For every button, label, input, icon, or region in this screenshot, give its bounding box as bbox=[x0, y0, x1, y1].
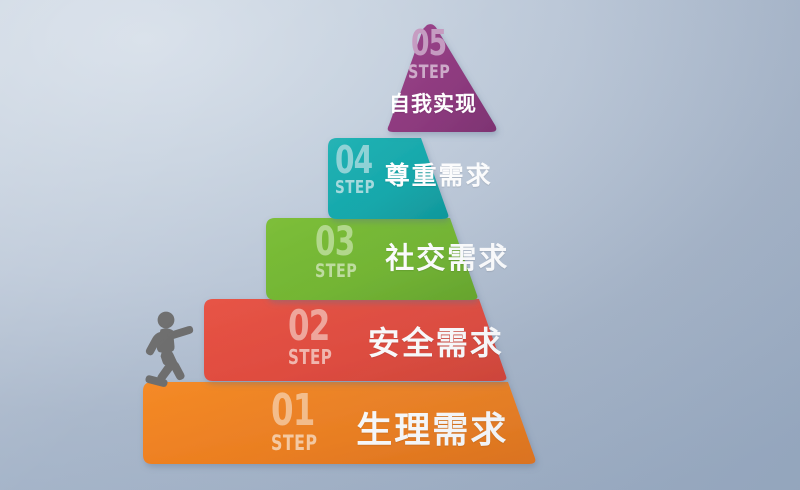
pyramid-level-01[interactable] bbox=[143, 382, 535, 464]
pyramid-diagram-canvas: 05 STEP 自我实现 04 STEP 尊重需求 03 STEP 社交需求 0… bbox=[0, 0, 800, 490]
pyramid-level-04[interactable] bbox=[328, 138, 448, 219]
pyramid-level-03[interactable] bbox=[266, 218, 477, 300]
walking-person-icon bbox=[140, 309, 202, 387]
pyramid-shapes bbox=[0, 0, 800, 490]
pyramid-level-05[interactable] bbox=[388, 24, 497, 132]
pyramid-level-02[interactable] bbox=[204, 299, 506, 381]
